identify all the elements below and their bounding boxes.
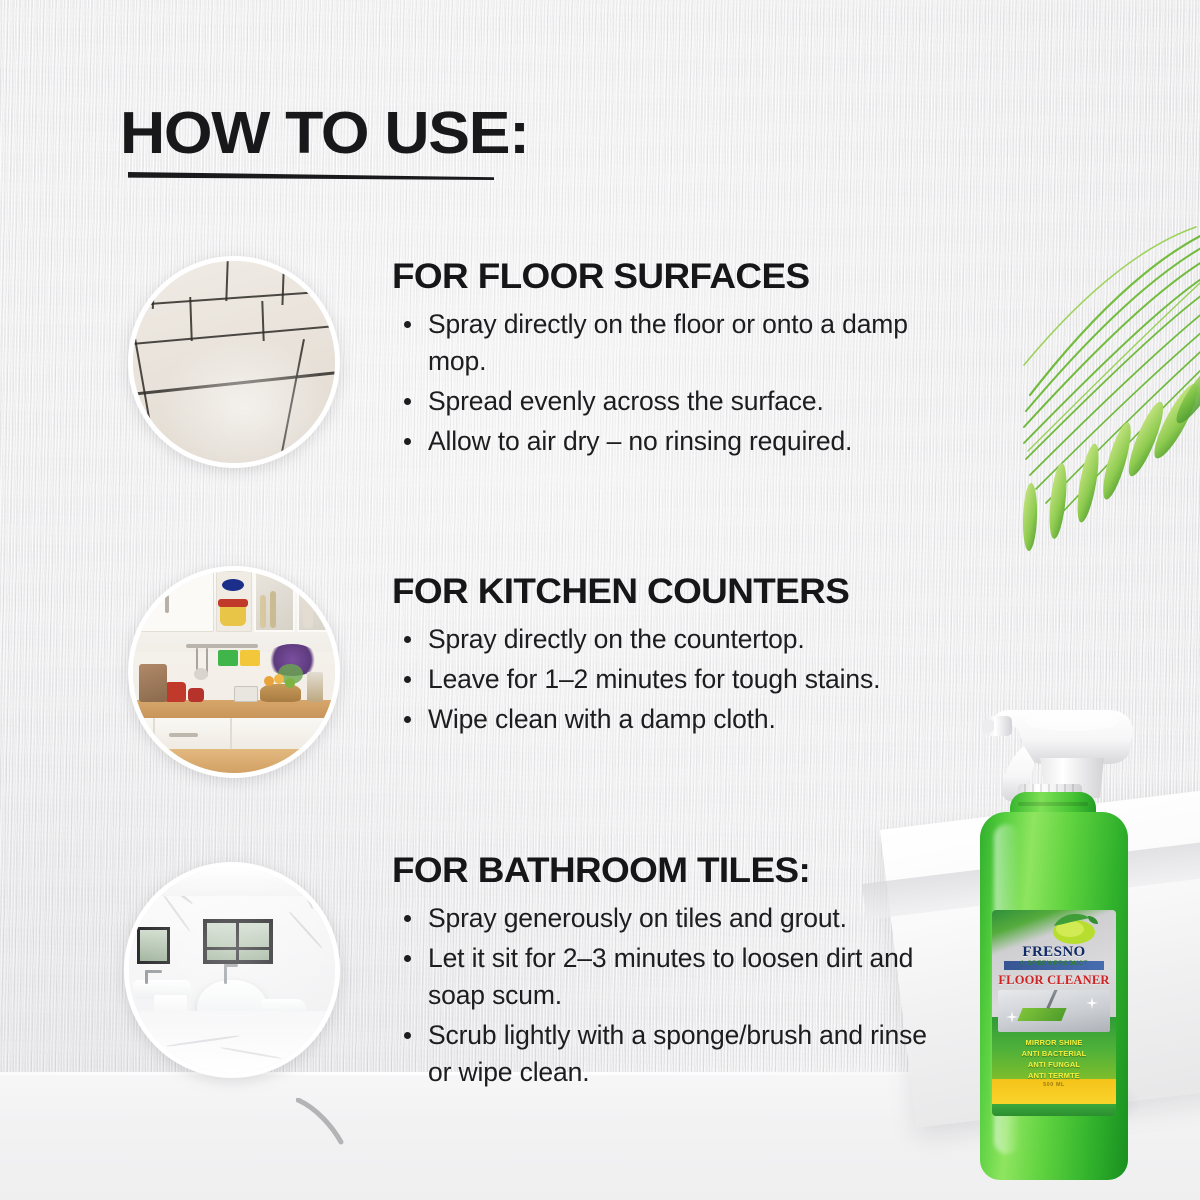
tile-floor-photo: [128, 256, 340, 468]
list-item: Spray directly on the countertop.: [392, 621, 880, 658]
bullet-text: Spray directly on the floor or onto a da…: [428, 309, 908, 376]
product-name: FLOOR CLEANER: [992, 973, 1116, 988]
section-bullet-list: Spray directly on the countertop. Leave …: [392, 621, 880, 738]
section-bullet-list: Spray directly on the floor or onto a da…: [392, 306, 952, 460]
list-item: Wipe clean with a damp cloth.: [392, 701, 880, 738]
section-kitchen-counters: FOR KITCHEN COUNTERS Spray directly on t…: [392, 573, 880, 741]
bullet-dot: [404, 1032, 411, 1039]
poster-canvas: HOW TO USE:: [0, 0, 1200, 1200]
list-item: Let it sit for 2–3 minutes to loosen dir…: [392, 940, 952, 1014]
section-title: FOR FLOOR SURFACES: [392, 258, 974, 295]
product-bottle: FRESNO A GREEN PRODUCT FLOOR CLEANER MIR…: [962, 706, 1162, 1186]
section-bullet-list: Spray generously on tiles and grout. Let…: [392, 900, 952, 1091]
surface-scuff-mark: [296, 1098, 356, 1146]
feature-item: ANTI BACTERIAL: [992, 1049, 1116, 1058]
page-title: HOW TO USE:: [120, 104, 529, 163]
bullet-text: Spray generously on tiles and grout.: [428, 903, 847, 933]
bullet-dot: [404, 321, 411, 328]
bullet-dot: [404, 676, 411, 683]
brand-name: FRESNO: [992, 944, 1116, 961]
feature-item: ANTI FUNGAL: [992, 1060, 1116, 1069]
bullet-dot: [404, 915, 411, 922]
feature-item: ANTI TERMTE: [992, 1071, 1116, 1080]
palm-leaf-icon: [1000, 225, 1200, 555]
list-item: Leave for 1–2 minutes for tough stains.: [392, 661, 880, 698]
bathroom-tile-photo: [124, 862, 340, 1078]
bullet-text: Leave for 1–2 minutes for tough stains.: [428, 664, 880, 694]
section-floor-surfaces: FOR FLOOR SURFACES Spray directly on the…: [392, 258, 952, 463]
list-item: Spread evenly across the surface.: [392, 383, 952, 420]
kitchen-counter-photo: [128, 566, 340, 778]
net-volume: 500 ML: [992, 1082, 1116, 1088]
bullet-text: Wipe clean with a damp cloth.: [428, 704, 776, 734]
bullet-text: Spread evenly across the surface.: [428, 386, 824, 416]
bullet-dot: [404, 955, 411, 962]
list-item: Scrub lightly with a sponge/brush and ri…: [392, 1017, 952, 1091]
bullet-text: Scrub lightly with a sponge/brush and ri…: [428, 1020, 927, 1087]
page-title-block: HOW TO USE:: [120, 104, 506, 163]
bullet-text: Spray directly on the countertop.: [428, 624, 805, 654]
bullet-text: Let it sit for 2–3 minutes to loosen dir…: [428, 943, 913, 1010]
list-item: Spray generously on tiles and grout.: [392, 900, 952, 937]
title-underline: [128, 168, 494, 177]
bullet-text: Allow to air dry – no rinsing required.: [428, 426, 852, 456]
mop-illustration: [998, 990, 1110, 1032]
product-label: FRESNO A GREEN PRODUCT FLOOR CLEANER MIR…: [992, 910, 1116, 1116]
bullet-dot: [404, 398, 411, 405]
list-item: Allow to air dry – no rinsing required.: [392, 423, 952, 460]
feature-item: MIRROR SHINE: [992, 1038, 1116, 1047]
section-title: FOR BATHROOM TILES:: [392, 852, 974, 889]
bullet-dot: [404, 636, 411, 643]
section-title: FOR KITCHEN COUNTERS: [392, 573, 900, 610]
lime-fruit-icon: [1044, 912, 1102, 944]
bullet-dot: [404, 438, 411, 445]
list-item: Spray directly on the floor or onto a da…: [392, 306, 952, 380]
bullet-dot: [404, 716, 411, 723]
section-bathroom-tiles: FOR BATHROOM TILES: Spray generously on …: [392, 852, 952, 1094]
product-tagline: A GREEN PRODUCT: [992, 960, 1116, 967]
